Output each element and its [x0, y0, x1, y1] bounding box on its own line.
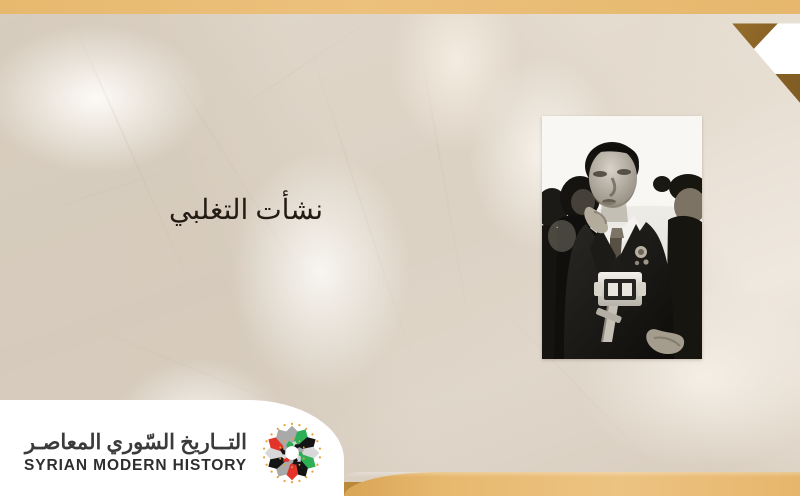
- top-gold-band: [0, 0, 800, 14]
- brand-name-arabic: التــاريخ السّوري المعاصـر: [25, 432, 247, 453]
- brand-name-english: SYRIAN MODERN HISTORY: [24, 458, 247, 474]
- brand-lockup[interactable]: التــاريخ السّوري المعاصـر SYRIAN MODERN…: [24, 422, 323, 484]
- portrait-photograph: [542, 116, 702, 359]
- page-title: نشأت التغلبي: [0, 192, 492, 230]
- slide-canvas: نشأت التغلبي: [0, 0, 800, 496]
- rosette-emblem-icon: [261, 422, 323, 484]
- bottom-gold-band: [344, 472, 800, 496]
- brand-text-block: التــاريخ السّوري المعاصـر SYRIAN MODERN…: [24, 432, 247, 474]
- photograph-image: [542, 116, 702, 359]
- footer-panel: التــاريخ السّوري المعاصـر SYRIAN MODERN…: [0, 400, 344, 496]
- gold-band-highlight: [344, 472, 800, 477]
